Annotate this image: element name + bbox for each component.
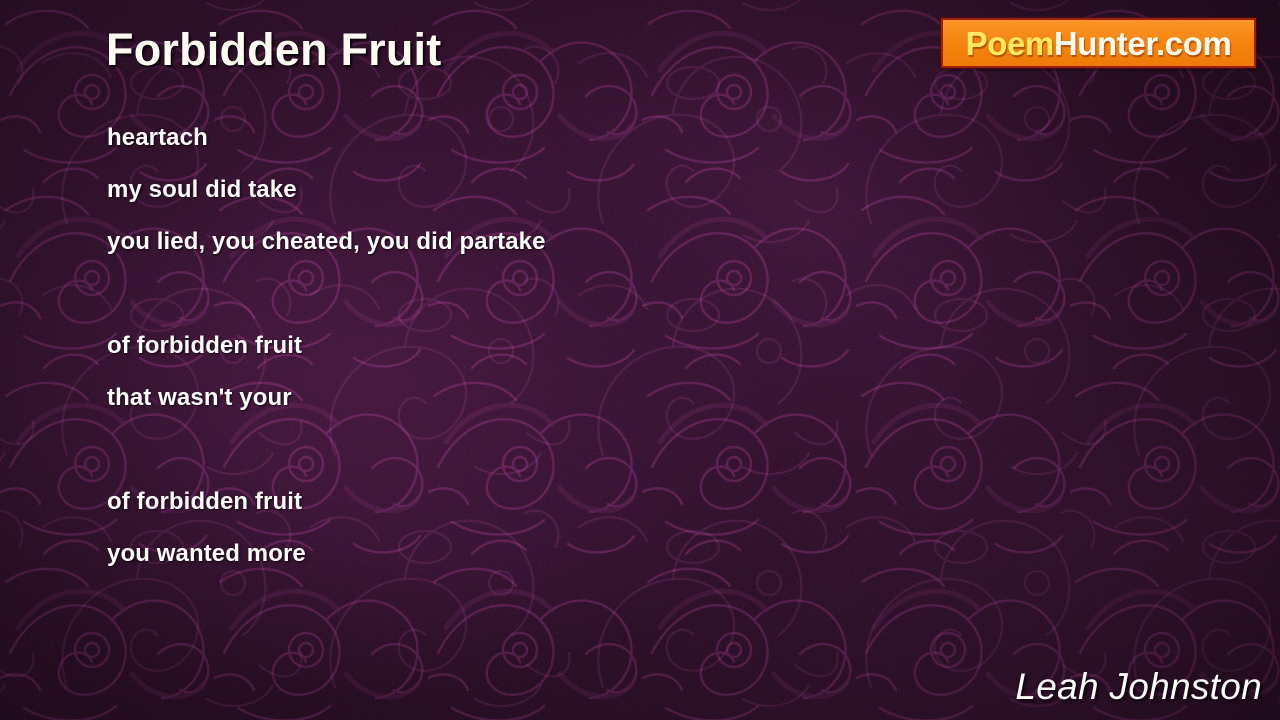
- poem-line: my soul did take: [107, 164, 887, 216]
- poem-line-blank: [107, 268, 887, 320]
- logo-text: PoemHunter.com: [966, 27, 1232, 60]
- poem-line-blank: [107, 424, 887, 476]
- poem-line: heartach: [107, 112, 887, 164]
- poem-line: of forbidden fruit: [107, 320, 887, 372]
- poem-line: you wanted more: [107, 528, 887, 580]
- poem-body: heartach my soul did take you lied, you …: [107, 112, 887, 580]
- logo-text-poem: Poem: [966, 25, 1054, 62]
- poem-slide: Forbidden Fruit PoemHunter.com heartach …: [0, 0, 1280, 720]
- poem-line: you lied, you cheated, you did partake: [107, 216, 887, 268]
- author-name: Leah Johnston: [1015, 666, 1262, 708]
- poem-line: that wasn't your: [107, 372, 887, 424]
- poem-line: of forbidden fruit: [107, 476, 887, 528]
- poemhunter-logo[interactable]: PoemHunter.com: [941, 18, 1256, 68]
- logo-text-hunter: Hunter.com: [1054, 25, 1232, 62]
- page-title: Forbidden Fruit: [106, 24, 441, 76]
